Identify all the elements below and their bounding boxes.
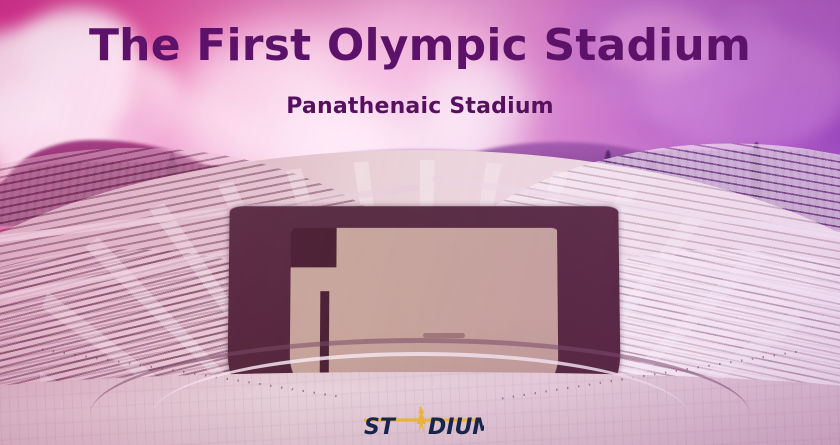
logo-text-st: ST [364,415,397,438]
stadium-logo[interactable]: ST DIUM [358,404,484,438]
page-subtitle: Panathenaic Stadium [0,94,840,119]
stadium-banner: The First Olympic Stadium Panathenaic St… [0,0,840,445]
logo-text-dium: DIUM [428,415,484,438]
stadium-logo-icon: ST DIUM [358,404,484,438]
page-title: The First Olympic Stadium [0,23,840,69]
infield-notch-top [291,228,337,267]
